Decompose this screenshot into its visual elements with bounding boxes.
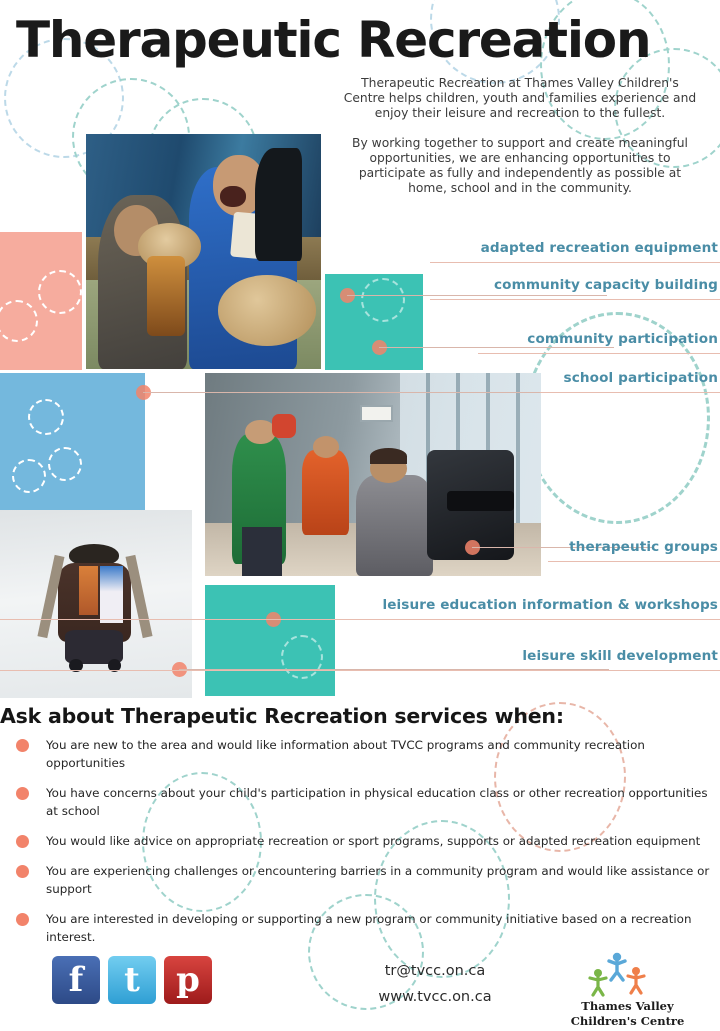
pinterest-icon[interactable]: p bbox=[164, 956, 212, 1004]
label-rule bbox=[0, 619, 720, 620]
bullet-dot-icon bbox=[16, 739, 29, 752]
label-rule bbox=[478, 353, 720, 354]
service-label-community-participation: community participation bbox=[260, 331, 718, 347]
list-item-text: You are interested in developing or supp… bbox=[46, 912, 691, 944]
list-item: You are experiencing challenges or encou… bbox=[10, 862, 710, 898]
decorative-circle bbox=[12, 459, 46, 493]
list-item-text: You are experiencing challenges or encou… bbox=[46, 864, 709, 896]
connector-line bbox=[379, 347, 614, 348]
list-item-text: You have concerns about your child's par… bbox=[46, 786, 708, 818]
decorative-circle bbox=[38, 270, 82, 314]
poster-canvas: Therapeutic Recreation Therapeutic Recre… bbox=[0, 0, 720, 1031]
ask-bullet-list: You are new to the area and would like i… bbox=[10, 736, 710, 958]
contact-email[interactable]: tr@tvcc.on.ca bbox=[330, 958, 540, 984]
service-label-therapeutic-groups: therapeutic groups bbox=[260, 539, 718, 555]
page-title: Therapeutic Recreation bbox=[16, 14, 706, 66]
label-rule bbox=[548, 561, 720, 562]
label-rule bbox=[0, 670, 720, 671]
service-label-leisure-education: leisure education information & workshop… bbox=[180, 597, 718, 613]
intro-text: Therapeutic Recreation at Thames Valley … bbox=[340, 76, 700, 196]
list-item-text: You would like advice on appropriate rec… bbox=[46, 834, 700, 848]
blue-color-block bbox=[0, 373, 145, 512]
list-item: You have concerns about your child's par… bbox=[10, 784, 710, 820]
social-links: f t p bbox=[52, 956, 212, 1004]
contact-info: tr@tvcc.on.ca www.tvcc.on.ca bbox=[330, 958, 540, 1010]
service-label-school-participation: school participation bbox=[260, 370, 718, 386]
twitter-icon[interactable]: t bbox=[108, 956, 156, 1004]
service-label-adapted-recreation-equipment: adapted recreation equipment bbox=[260, 240, 718, 256]
facebook-icon[interactable]: f bbox=[52, 956, 100, 1004]
service-label-leisure-skill-development: leisure skill development bbox=[260, 648, 718, 664]
ask-section-heading: Ask about Therapeutic Recreation service… bbox=[0, 704, 700, 728]
tvcc-logo: Thames Valley Children's Centre bbox=[565, 950, 690, 1028]
decorative-circle bbox=[0, 300, 38, 342]
bullet-dot-icon bbox=[16, 835, 29, 848]
pinterest-glyph: p bbox=[176, 963, 200, 997]
label-rule bbox=[540, 392, 720, 393]
connector-line bbox=[347, 295, 607, 296]
intro-paragraph-2: By working together to support and creat… bbox=[340, 136, 700, 197]
list-item: You would like advice on appropriate rec… bbox=[10, 832, 710, 850]
salmon-color-block bbox=[0, 232, 82, 370]
list-item-text: You are new to the area and would like i… bbox=[46, 738, 645, 770]
contact-website[interactable]: www.tvcc.on.ca bbox=[330, 984, 540, 1010]
list-item: You are interested in developing or supp… bbox=[10, 910, 710, 946]
intro-paragraph-1: Therapeutic Recreation at Thames Valley … bbox=[340, 76, 700, 122]
logo-figures-icon bbox=[565, 950, 690, 998]
label-rule bbox=[430, 262, 720, 263]
logo-line-1: Thames Valley bbox=[565, 1000, 690, 1013]
service-label-community-capacity-building: community capacity building bbox=[260, 277, 718, 293]
decorative-circle bbox=[48, 447, 82, 481]
label-rule bbox=[430, 299, 720, 300]
bullet-dot-icon bbox=[16, 787, 29, 800]
list-item: You are new to the area and would like i… bbox=[10, 736, 710, 772]
logo-mark-icon bbox=[565, 950, 690, 998]
decorative-circle bbox=[28, 399, 64, 435]
facebook-glyph: f bbox=[69, 963, 84, 997]
bullet-dot-icon bbox=[16, 913, 29, 926]
bullet-dot-icon bbox=[16, 865, 29, 878]
logo-line-2: Children's Centre bbox=[565, 1015, 690, 1028]
twitter-glyph: t bbox=[124, 963, 140, 997]
